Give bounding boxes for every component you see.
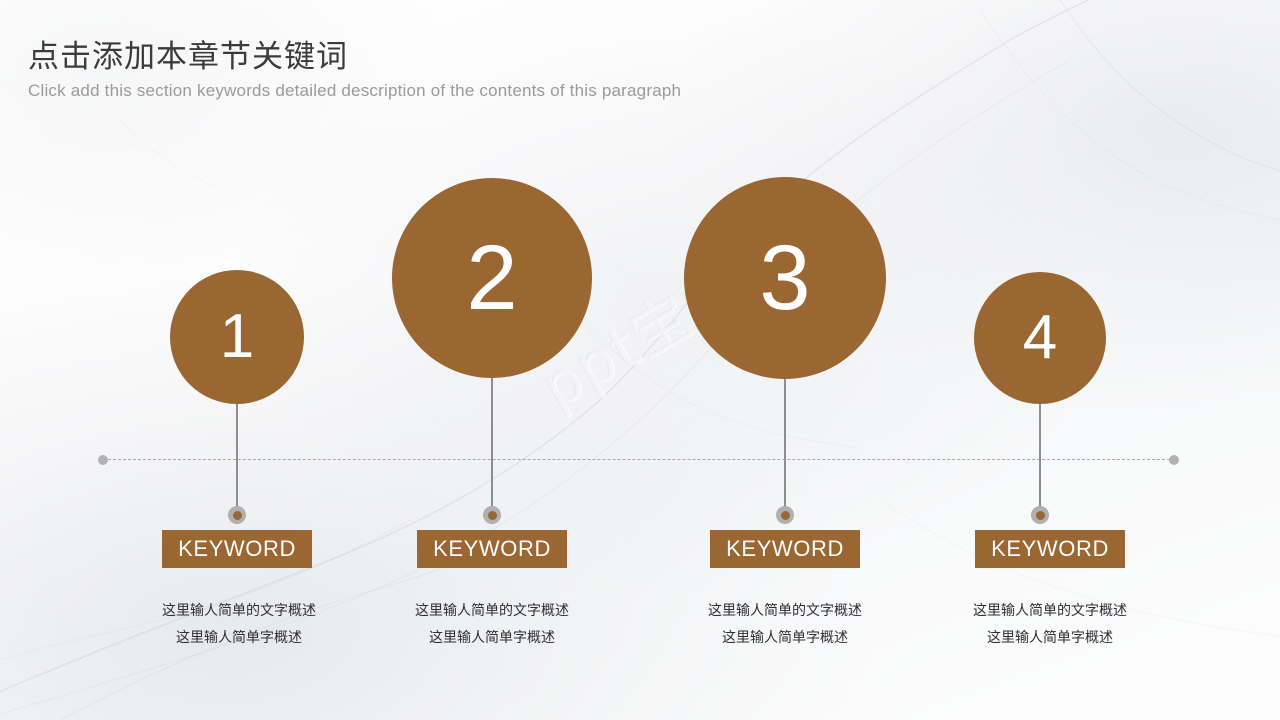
keyword-label-1: KEYWORD bbox=[178, 536, 296, 562]
step-number-1: 1 bbox=[220, 306, 254, 368]
keyword-box-1[interactable]: KEYWORD bbox=[162, 530, 312, 568]
step-number-3: 3 bbox=[759, 232, 810, 324]
step-connector-1 bbox=[236, 404, 238, 515]
caption-line-4a: 这里输人简单的文字概述 bbox=[900, 598, 1200, 625]
step-circle-2[interactable]: 2 bbox=[392, 178, 592, 378]
keyword-label-2: KEYWORD bbox=[433, 536, 551, 562]
step-caption-4: 这里输人简单的文字概述 这里输人简单字概述 bbox=[900, 598, 1200, 653]
keyword-box-4[interactable]: KEYWORD bbox=[975, 530, 1125, 568]
caption-line-4b: 这里输人简单字概述 bbox=[900, 625, 1200, 652]
keyword-label-3: KEYWORD bbox=[726, 536, 844, 562]
keyword-box-2[interactable]: KEYWORD bbox=[417, 530, 567, 568]
step-number-4: 4 bbox=[1023, 307, 1057, 369]
slide-canvas: ppt宝藏网 点击添加本章节关键词 Click add this section… bbox=[0, 0, 1280, 720]
keyword-box-3[interactable]: KEYWORD bbox=[710, 530, 860, 568]
step-circle-4[interactable]: 4 bbox=[974, 272, 1106, 404]
step-connector-3 bbox=[784, 379, 786, 515]
keyword-label-4: KEYWORD bbox=[991, 536, 1109, 562]
step-caption-2: 这里输人简单的文字概述 这里输人简单字概述 bbox=[342, 598, 642, 653]
step-circle-3[interactable]: 3 bbox=[684, 177, 886, 379]
step-node-dot-4 bbox=[1031, 506, 1049, 524]
caption-line-2b: 这里输人简单字概述 bbox=[342, 625, 642, 652]
timeline-column-2: 2 KEYWORD 这里输人简单的文字概述 这里输人简单字概述 bbox=[342, 0, 642, 720]
step-circle-1[interactable]: 1 bbox=[170, 270, 304, 404]
step-connector-2 bbox=[491, 378, 493, 515]
step-node-dot-3 bbox=[776, 506, 794, 524]
step-node-dot-1 bbox=[228, 506, 246, 524]
step-connector-4 bbox=[1039, 404, 1041, 515]
step-number-2: 2 bbox=[466, 232, 517, 324]
step-node-dot-2 bbox=[483, 506, 501, 524]
timeline-column-4: 4 KEYWORD 这里输人简单的文字概述 这里输人简单字概述 bbox=[890, 0, 1190, 720]
caption-line-2a: 这里输人简单的文字概述 bbox=[342, 598, 642, 625]
